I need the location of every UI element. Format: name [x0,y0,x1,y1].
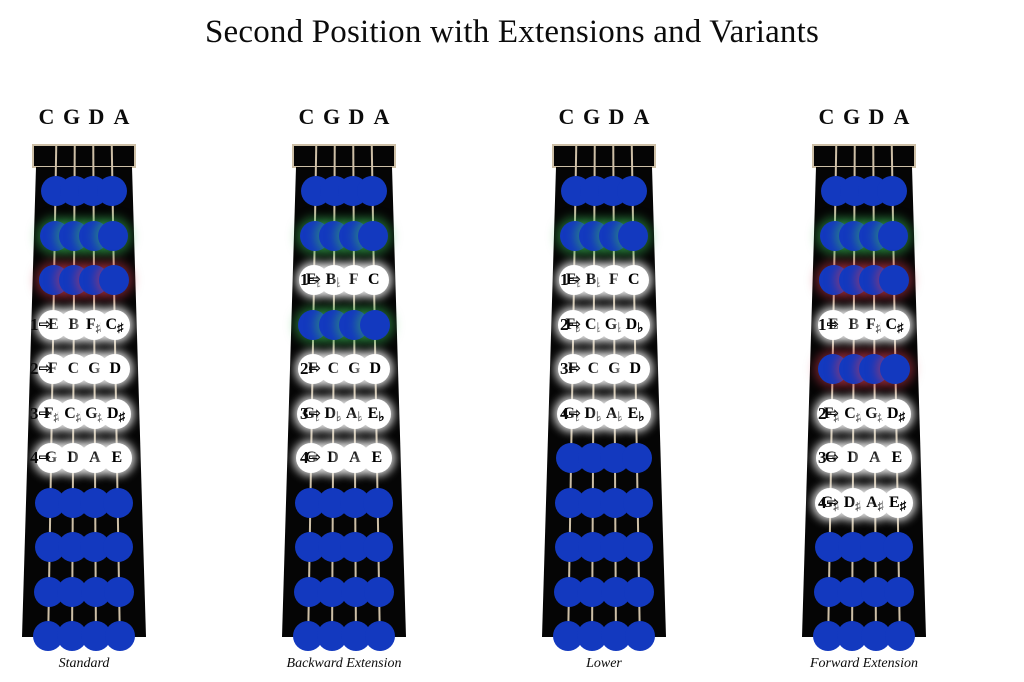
string-label-c: C [294,104,319,130]
sharp-icon: ♯ [117,320,124,335]
fret-dot [625,621,655,651]
sharp-icon: ♯ [900,498,907,513]
fretboard-caption-standard: Standard [0,656,212,672]
note-label: C♯ [105,317,123,333]
fret-dot [879,265,909,295]
note-label: C [328,361,340,377]
note-label: E [112,450,123,466]
sharp-icon: ♯ [119,409,126,424]
fret-dot [104,577,134,607]
note-marker-D♭: D♭ [620,310,650,340]
note-label: G [348,361,360,377]
note-marker-D♯: D♯ [101,399,131,429]
string-labels: CGDA [0,104,212,136]
string-labels: CGDA [476,104,732,136]
note-markers: EBF♯C♯F♯C♯G♯D♯GDAEG♯D♯A♯E♯ [736,137,992,649]
sharp-icon: ♯ [899,409,906,424]
fret-dot [363,488,393,518]
fret-dot [883,532,913,562]
note-label: A [869,450,881,466]
note-label: G [88,361,100,377]
string-label-d: D [344,104,369,130]
fret-dot [624,577,654,607]
note-label: D [327,450,339,466]
fret-dot [877,176,907,206]
note-label: D♯ [844,495,862,511]
fret-dot [622,443,652,473]
fret-dot [105,621,135,651]
string-label-c: C [554,104,579,130]
fretboard-caption-lower: Lower [476,656,732,672]
fret-dot [618,221,648,251]
note-label: E♭ [628,406,645,422]
note-label: F [48,361,58,377]
sharp-icon: ♯ [897,320,904,335]
fret-dot [365,621,395,651]
note-marker-C♯: C♯ [880,310,910,340]
note-label: E [828,317,839,333]
note-label: C [628,272,640,288]
note-label: E [48,317,59,333]
note-marker-E♭: E♭ [621,399,651,429]
fret-dot [98,221,128,251]
note-label: F [609,272,619,288]
note-label: F [308,361,318,377]
fret-dot [623,532,653,562]
note-marker-D: D [100,354,130,384]
flat-icon: ♭ [378,409,384,424]
note-label: D [110,361,122,377]
note-marker-C♯: C♯ [100,310,130,340]
note-marker-D♯: D♯ [881,399,911,429]
note-marker-E♯: E♯ [883,488,913,518]
note-markers: E♭B♭FCFCGDG♭D♭A♭E♭GDAE [216,137,472,649]
fret-dot [364,577,394,607]
note-label: D [630,361,642,377]
string-label-g: G [839,104,864,130]
note-label: D♭ [626,317,644,333]
fretboard-collection: CGDAEBF♯C♯FCGDF♯C♯G♯D♯GDAE1⇨2⇨3⇨4⇨Standa… [0,104,1024,682]
string-labels: CGDA [736,104,992,136]
note-label: B [848,317,859,333]
note-label: D♯ [887,406,905,422]
note-label: B [68,317,79,333]
fretboard-caption-forward-extension: Forward Extension [736,656,992,672]
note-label: D [370,361,382,377]
note-label: G [305,450,317,466]
note-label: C [68,361,80,377]
fret-dot [360,310,390,340]
note-marker-E♭: E♭ [361,399,391,429]
note-markers: EBF♯C♯FCGDF♯C♯G♯D♯GDAE [0,137,212,649]
string-label-a: A [369,104,394,130]
string-label-c: C [814,104,839,130]
fret-dot [103,488,133,518]
string-label-d: D [84,104,109,130]
note-label: D♯ [107,406,125,422]
note-marker-D: D [360,354,390,384]
fret-dot [617,176,647,206]
note-marker-C: C [359,265,389,295]
fretboard-standard: CGDAEBF♯C♯FCGDF♯C♯G♯D♯GDAE1⇨2⇨3⇨4⇨Standa… [0,104,212,682]
note-label: D [67,450,79,466]
note-label: C♯ [885,317,903,333]
fretboard-lower: CGDAE♭B♭FCF♭C♭G♭D♭FCGDG♭D♭A♭E♭1⇨2⇨3⇨4⇨Lo… [476,104,732,682]
fretboard-caption-backward-extension: Backward Extension [216,656,472,672]
fretboard-backward-extension: CGDAE♭B♭FCFCGDG♭D♭A♭E♭GDAE1⇨2⇨3⇨4⇨Backwa… [216,104,472,682]
string-label-g: G [579,104,604,130]
note-label: C [368,272,380,288]
fret-dot [357,176,387,206]
flat-icon: ♭ [637,320,643,335]
flat-icon: ♭ [638,409,644,424]
note-label: D [847,450,859,466]
string-labels: CGDA [216,104,472,136]
page-title: Second Position with Extensions and Vari… [0,14,1024,51]
note-marker-E: E [362,443,392,473]
fret-dot [358,221,388,251]
note-label: G [825,450,837,466]
fretboard-forward-extension: CGDAEBF♯C♯F♯C♯G♯D♯GDAEG♯D♯A♯E♯1⇨2⇨3⇨4⇨Fo… [736,104,992,682]
fret-dot [884,577,914,607]
fret-dot [97,176,127,206]
note-label: G [608,361,620,377]
string-label-c: C [34,104,59,130]
note-label: F [349,272,359,288]
note-label: C [588,361,600,377]
note-marker-E: E [102,443,132,473]
string-label-a: A [889,104,914,130]
string-label-g: G [59,104,84,130]
fret-dot [103,532,133,562]
fret-dot [623,488,653,518]
note-marker-D: D [620,354,650,384]
note-label: F [568,361,578,377]
note-marker-E: E [882,443,912,473]
note-label: A [349,450,361,466]
string-label-g: G [319,104,344,130]
note-label: E [892,450,903,466]
note-label: E♭ [368,406,385,422]
string-label-a: A [109,104,134,130]
string-label-d: D [864,104,889,130]
fret-dot [885,621,915,651]
note-marker-C: C [619,265,649,295]
note-label: G [45,450,57,466]
note-label: A [89,450,101,466]
fret-dot [363,532,393,562]
fret-dot [99,265,129,295]
note-label: A♯ [866,495,884,511]
note-label: E [372,450,383,466]
note-markers: E♭B♭FCF♭C♭G♭D♭FCGDG♭D♭A♭E♭ [476,137,732,649]
fret-dot [878,221,908,251]
string-label-a: A [629,104,654,130]
note-label: E♯ [889,495,906,511]
fret-dot [880,354,910,384]
string-label-d: D [604,104,629,130]
